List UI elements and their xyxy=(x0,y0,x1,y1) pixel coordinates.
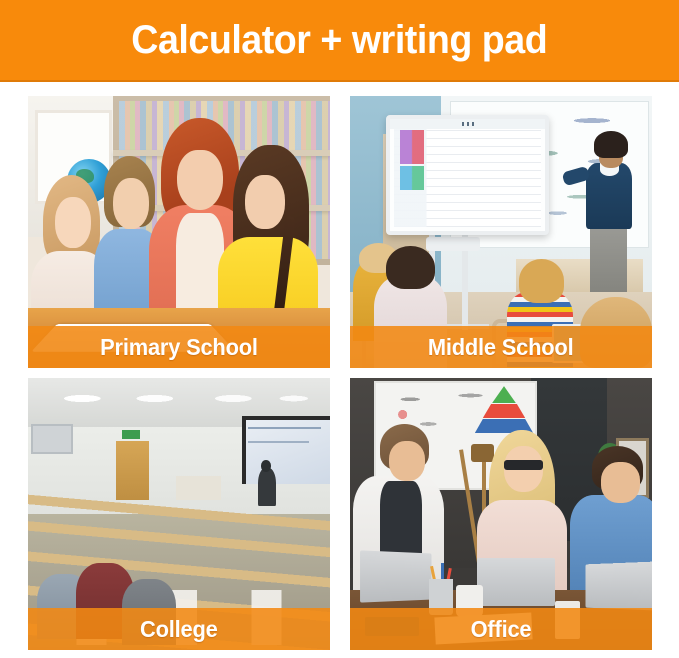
use-case-card-middle-school: Middle School xyxy=(350,96,652,368)
child-left-face xyxy=(55,197,91,249)
caption-bar-primary-school: Primary School xyxy=(28,326,330,368)
caption-label: Middle School xyxy=(428,334,574,361)
laptop-right xyxy=(585,561,652,610)
caption-label: College xyxy=(140,616,218,643)
display-tiles-top xyxy=(400,130,425,164)
teacher-legs xyxy=(590,226,627,292)
use-case-grid: Primary School xyxy=(28,96,652,650)
colleague-center-glasses xyxy=(504,460,543,471)
caption-bar-college: College xyxy=(28,608,330,650)
use-case-card-college: College xyxy=(28,378,330,650)
laptop-left xyxy=(360,550,432,602)
caption-label: Primary School xyxy=(100,334,258,361)
student-center-head xyxy=(519,259,564,303)
projection-screen-line-2 xyxy=(248,441,308,443)
teacher-figure xyxy=(580,131,637,289)
interactive-display xyxy=(386,115,549,235)
teacher-shirt xyxy=(176,213,224,322)
teacher-hair xyxy=(594,131,627,158)
ceiling-lights xyxy=(28,386,330,410)
child-right-face xyxy=(245,175,284,229)
laptop-center xyxy=(477,558,556,607)
colleague-left-face xyxy=(389,441,425,482)
header-banner: Calculator + writing pad xyxy=(0,0,679,82)
page-title: Calculator + writing pad xyxy=(132,20,548,60)
pyramid-tier-top xyxy=(492,386,516,403)
display-stand-tray xyxy=(426,237,480,251)
caption-bar-middle-school: Middle School xyxy=(350,326,652,368)
display-tiles-bottom xyxy=(400,166,425,191)
caption-label: Office xyxy=(471,616,532,643)
lecturer-head xyxy=(261,460,272,472)
pyramid-tier-middle xyxy=(483,404,526,418)
teacher-face xyxy=(177,150,222,210)
product-feature-image: Calculator + writing pad xyxy=(0,0,679,658)
child-middle-face xyxy=(113,178,149,230)
student-left-head xyxy=(386,246,434,290)
wall-monitor xyxy=(31,424,73,454)
tripod-head xyxy=(471,444,494,462)
display-toolbar-dots xyxy=(462,122,476,125)
exit-sign xyxy=(122,430,140,440)
caption-bar-office: Office xyxy=(350,608,652,650)
use-case-card-office: Office xyxy=(350,378,652,650)
projection-screen-line-1 xyxy=(248,427,320,429)
colleague-right-face xyxy=(601,462,640,503)
use-case-card-primary-school: Primary School xyxy=(28,96,330,368)
